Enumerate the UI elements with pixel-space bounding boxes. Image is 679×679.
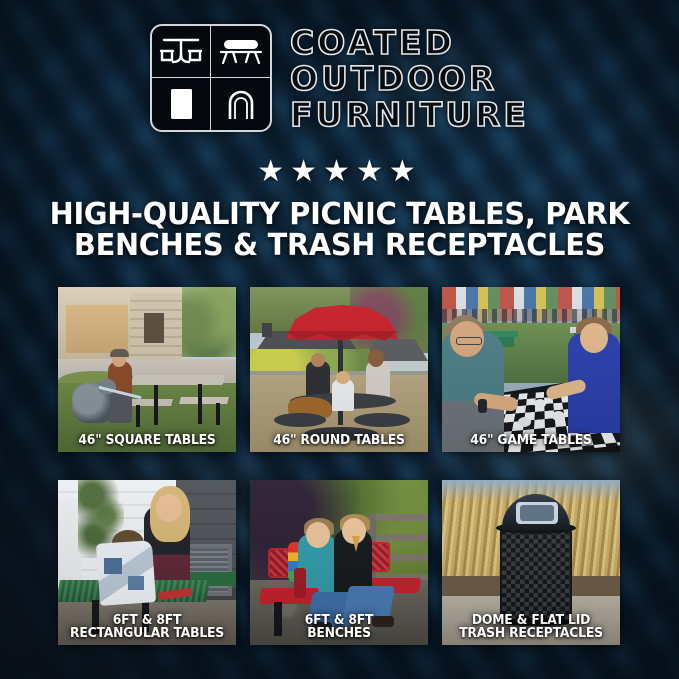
park-bench-icon	[211, 26, 270, 78]
logo-icon-grid	[150, 24, 272, 132]
caption-line-1: 6FT & 8FT	[257, 614, 420, 628]
caption-line-2: RECTANGULAR TABLES	[65, 627, 228, 641]
product-photo	[250, 287, 428, 452]
page-title: HIGH-QUALITY PICNIC TABLES, PARK BENCHES…	[37, 200, 643, 261]
product-tile-rectangular-tables[interactable]: 6FT & 8FT RECTANGULAR TABLES	[58, 480, 236, 645]
brand-logo[interactable]: COATED OUTDOOR FURNITURE	[0, 24, 679, 133]
promo-banner: COATED OUTDOOR FURNITURE ★★★★★ HIGH-QUAL…	[0, 0, 679, 679]
product-photo	[442, 287, 620, 452]
star-icon: ★	[290, 157, 323, 187]
star-icon: ★	[356, 157, 389, 187]
product-caption: 46" SQUARE TABLES	[65, 434, 228, 448]
caption-line-1: 46" GAME TABLES	[449, 434, 612, 448]
caption-line-1: DOME & FLAT LID	[449, 614, 612, 628]
wordmark-line-1: COATED	[290, 26, 529, 61]
bike-rack-icon	[211, 78, 270, 130]
wordmark-line-3: FURNITURE	[290, 98, 529, 133]
star-icon: ★	[323, 157, 356, 187]
headline-line-2: BENCHES & TRASH RECEPTACLES	[37, 231, 643, 262]
product-caption: DOME & FLAT LID TRASH RECEPTACLES	[449, 614, 612, 641]
product-tile-trash-receptacles[interactable]: DOME & FLAT LID TRASH RECEPTACLES	[442, 480, 620, 645]
product-tile-game-tables[interactable]: 46" GAME TABLES	[442, 287, 620, 452]
product-caption: 6FT & 8FT BENCHES	[257, 614, 420, 641]
product-tile-benches[interactable]: 6FT & 8FT BENCHES	[250, 480, 428, 645]
star-icon: ★	[389, 157, 422, 187]
product-tile-square-tables[interactable]: 46" SQUARE TABLES	[58, 287, 236, 452]
caption-line-2: BENCHES	[257, 627, 420, 641]
trash-receptacle-icon	[152, 78, 211, 130]
product-photo	[58, 287, 236, 452]
star-icon: ★	[257, 157, 290, 187]
product-caption: 46" GAME TABLES	[449, 434, 612, 448]
caption-line-1: 46" SQUARE TABLES	[65, 434, 228, 448]
product-grid: 46" SQUARE TABLES 46"	[58, 287, 620, 645]
product-tile-round-tables[interactable]: 46" ROUND TABLES	[250, 287, 428, 452]
wordmark-line-2: OUTDOOR	[290, 62, 529, 97]
product-caption: 46" ROUND TABLES	[257, 434, 420, 448]
brand-wordmark: COATED OUTDOOR FURNITURE	[290, 24, 529, 133]
picnic-table-icon	[152, 26, 211, 78]
caption-line-1: 6FT & 8FT	[65, 614, 228, 628]
headline-line-1: HIGH-QUALITY PICNIC TABLES, PARK	[37, 200, 643, 231]
caption-line-2: TRASH RECEPTACLES	[449, 627, 612, 641]
caption-line-1: 46" ROUND TABLES	[257, 434, 420, 448]
product-caption: 6FT & 8FT RECTANGULAR TABLES	[65, 614, 228, 641]
star-rating: ★★★★★	[0, 157, 679, 187]
